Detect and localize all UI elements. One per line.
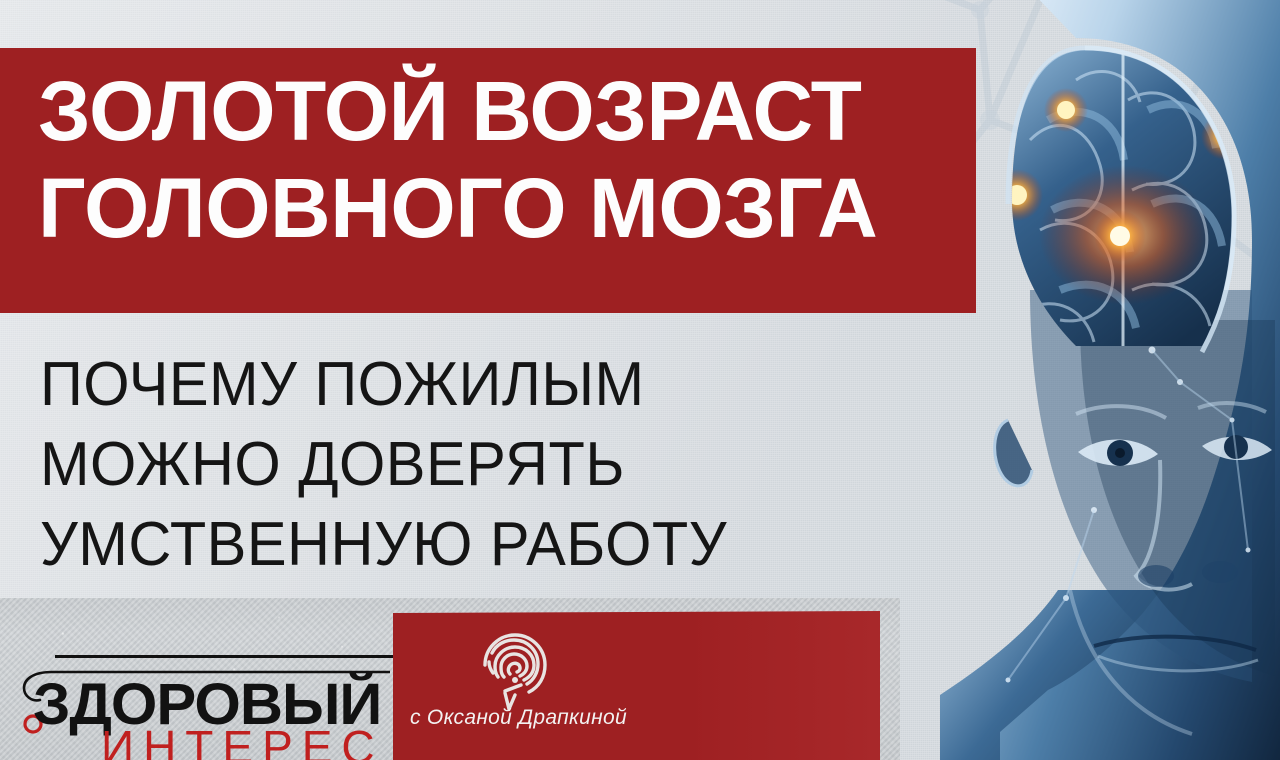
fingerprint-speech-bubble-icon <box>469 619 561 711</box>
headline: ЗОЛОТОЙ ВОЗРАСТ ГОЛОВНОГО МОЗГА <box>38 63 968 257</box>
subheadline-line-1: ПОЧЕМУ ПОЖИЛЫМ <box>40 345 846 425</box>
subheadline: ПОЧЕМУ ПОЖИЛЫМ МОЖНО ДОВЕРЯТЬ УМСТВЕННУЮ… <box>40 345 880 585</box>
logo-word-secondary: ИНТЕРЕС <box>101 724 384 760</box>
show-badge <box>393 611 880 760</box>
headline-line-2: ГОЛОВНОГО МОЗГА <box>38 160 968 257</box>
headline-line-1: ЗОЛОТОЙ ВОЗРАСТ <box>38 63 968 160</box>
subheadline-line-2: МОЖНО ДОВЕРЯТЬ <box>40 425 846 505</box>
subheadline-line-3: УМСТВЕННУЮ РАБОТУ <box>40 505 846 585</box>
anatomical-head-artwork <box>880 0 1280 760</box>
channel-logo[interactable]: ЗДОРОВЫЙ ИНТЕРЕС <box>0 636 400 760</box>
host-credit: с Оксаной Драпкиной <box>410 706 627 730</box>
thumbnail-canvas: ЗОЛОТОЙ ВОЗРАСТ ГОЛОВНОГО МОЗГА ПОЧЕМУ П… <box>0 0 1280 760</box>
